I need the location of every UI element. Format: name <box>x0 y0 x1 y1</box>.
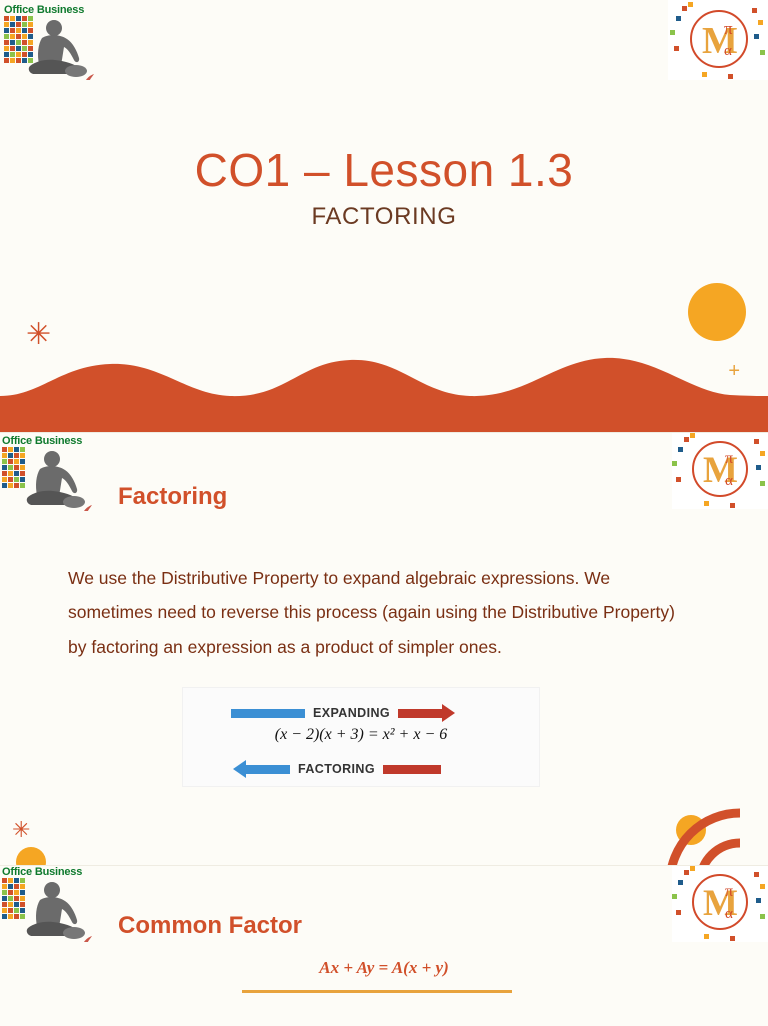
person-silhouette-icon <box>22 449 92 511</box>
red-bar-icon <box>398 709 442 718</box>
logo-pi: π <box>724 20 733 37</box>
wave-decor <box>0 352 768 432</box>
slide-common-factor: Office Business <box>0 865 768 1026</box>
factoring-label: FACTORING <box>298 762 375 776</box>
logo-pi: π <box>725 884 733 900</box>
blue-bar-icon <box>246 765 290 774</box>
red-bar-icon <box>383 765 441 774</box>
person-silhouette-icon <box>24 18 94 80</box>
logo-alpha: α <box>724 44 732 59</box>
watermark-label: Office Business <box>4 4 84 16</box>
section-heading: Common Factor <box>118 912 302 940</box>
right-arrow-icon <box>442 704 455 722</box>
asterisk-icon: ✳ <box>26 320 51 350</box>
logo-pi: π <box>725 451 733 467</box>
math-logo: M π α <box>672 866 768 942</box>
divider <box>242 990 512 993</box>
arc-decor <box>648 791 768 865</box>
asterisk-icon: ✳ <box>12 819 30 841</box>
person-silhouette-icon <box>22 880 92 942</box>
watermark-office-business: Office Business <box>4 4 112 84</box>
watermark-label: Office Business <box>2 435 82 447</box>
logo-alpha: α <box>725 474 733 489</box>
amber-circle-decor <box>16 847 46 865</box>
amber-circle-decor <box>688 283 746 341</box>
expanding-row: EXPANDING <box>231 704 455 722</box>
body-paragraph: We use the Distributive Property to expa… <box>68 561 676 665</box>
page-subtitle: FACTORING <box>0 203 768 231</box>
section-heading: Factoring <box>118 483 227 511</box>
math-logo: M π α <box>672 433 768 509</box>
slide-factoring: Office Business <box>0 432 768 865</box>
watermark-office-business: Office Business <box>2 866 110 942</box>
left-arrow-icon <box>233 760 246 778</box>
logo-alpha: α <box>725 907 733 922</box>
figure-equation: (x − 2)(x + 3) = x² + x − 6 <box>183 726 539 744</box>
common-factor-formula: Ax + Ay = A(x + y) <box>0 958 768 978</box>
expanding-factoring-figure: EXPANDING (x − 2)(x + 3) = x² + x − 6 FA… <box>182 687 540 787</box>
expanding-label: EXPANDING <box>313 706 390 720</box>
blue-bar-icon <box>231 709 305 718</box>
watermark-office-business: Office Business <box>2 435 110 511</box>
math-logo: M π α <box>668 0 768 80</box>
watermark-label: Office Business <box>2 866 82 878</box>
factoring-row: FACTORING <box>233 760 441 778</box>
slide-title: Office Business <box>0 0 768 432</box>
page-title: CO1 – Lesson 1.3 <box>0 143 768 197</box>
